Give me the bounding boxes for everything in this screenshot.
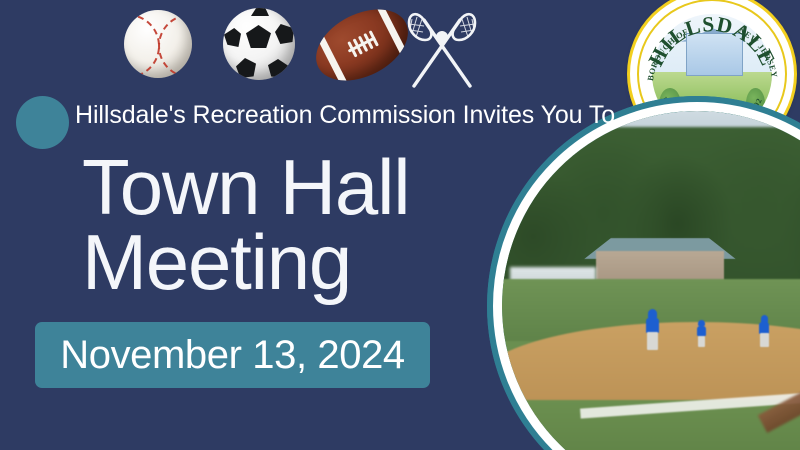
football-stripe [315,31,349,89]
sports-icon-row [118,4,478,96]
football-stripe [375,1,409,59]
poster-subtitle: Hillsdale's Recreation Commission Invite… [75,101,615,130]
photo-player [646,318,659,350]
baseball-photo-circle [487,96,800,450]
soccer-panel [275,24,294,44]
lacrosse-sticks-icon [406,6,478,92]
page-title: Town Hall Meeting [82,150,409,300]
baseball-seam [158,14,192,78]
soccer-panel [268,59,288,78]
photo-white-ring [493,102,800,450]
town-hall-meeting-poster: HILLSDALE BOROUGH OF NEW JERSEY INCORPOR… [0,0,800,450]
date-banner: November 13, 2024 [35,322,430,388]
soccer-ball-icon [223,8,295,80]
soccer-panel [251,8,269,16]
photo-player [759,322,769,347]
baseball-field-photo [502,111,800,450]
soccer-panel [246,25,271,48]
soccer-panel [224,28,241,47]
soccer-panel [236,58,256,78]
baseball-icon [124,10,192,78]
lacrosse-ball [436,31,448,43]
event-date: November 13, 2024 [60,333,405,378]
football-icon [304,0,419,95]
seal-house [686,33,743,76]
baseball-seam [124,14,160,78]
photo-player [697,326,706,348]
accent-dot [16,96,69,149]
